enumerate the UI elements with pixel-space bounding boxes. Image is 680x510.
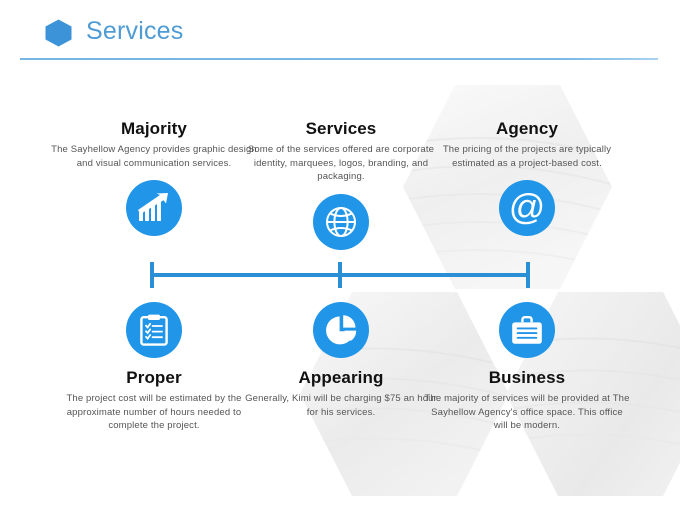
service-description: The majority of services will be provide…: [418, 392, 636, 433]
pie-chart-icon[interactable]: [313, 302, 369, 358]
service-card-proper[interactable]: Proper The project cost will be estimate…: [45, 302, 263, 433]
slide-header: Services: [0, 0, 680, 70]
service-title: Proper: [45, 367, 263, 388]
at-sign-glyph: @: [509, 189, 546, 225]
service-title: Majority: [45, 118, 263, 139]
service-card-majority[interactable]: Majority The Sayhellow Agency provides g…: [45, 118, 263, 236]
header-divider: [20, 58, 658, 60]
hexagon-icon: [45, 19, 72, 47]
bar-chart-growth-icon[interactable]: [126, 180, 182, 236]
services-column-3: Agency The pricing of the projects are t…: [418, 70, 636, 510]
page-title: Services: [86, 17, 183, 46]
service-description: The project cost will be estimated by th…: [45, 392, 263, 433]
globe-icon[interactable]: [313, 194, 369, 250]
service-card-agency[interactable]: Agency The pricing of the projects are t…: [418, 118, 636, 236]
at-sign-icon[interactable]: @: [499, 180, 555, 236]
service-description: The Sayhellow Agency provides graphic de…: [45, 143, 263, 170]
services-column-1: Majority The Sayhellow Agency provides g…: [45, 70, 263, 510]
service-description: The pricing of the projects are typicall…: [418, 143, 636, 170]
services-grid: Majority The Sayhellow Agency provides g…: [0, 70, 680, 510]
clipboard-checklist-icon[interactable]: [126, 302, 182, 358]
slide-canvas: Services Majority The Sayhellow Agency p…: [0, 0, 680, 510]
service-title: Agency: [418, 118, 636, 139]
briefcase-icon[interactable]: [499, 302, 555, 358]
service-card-business[interactable]: Business The majority of services will b…: [418, 302, 636, 433]
service-title: Business: [418, 367, 636, 388]
